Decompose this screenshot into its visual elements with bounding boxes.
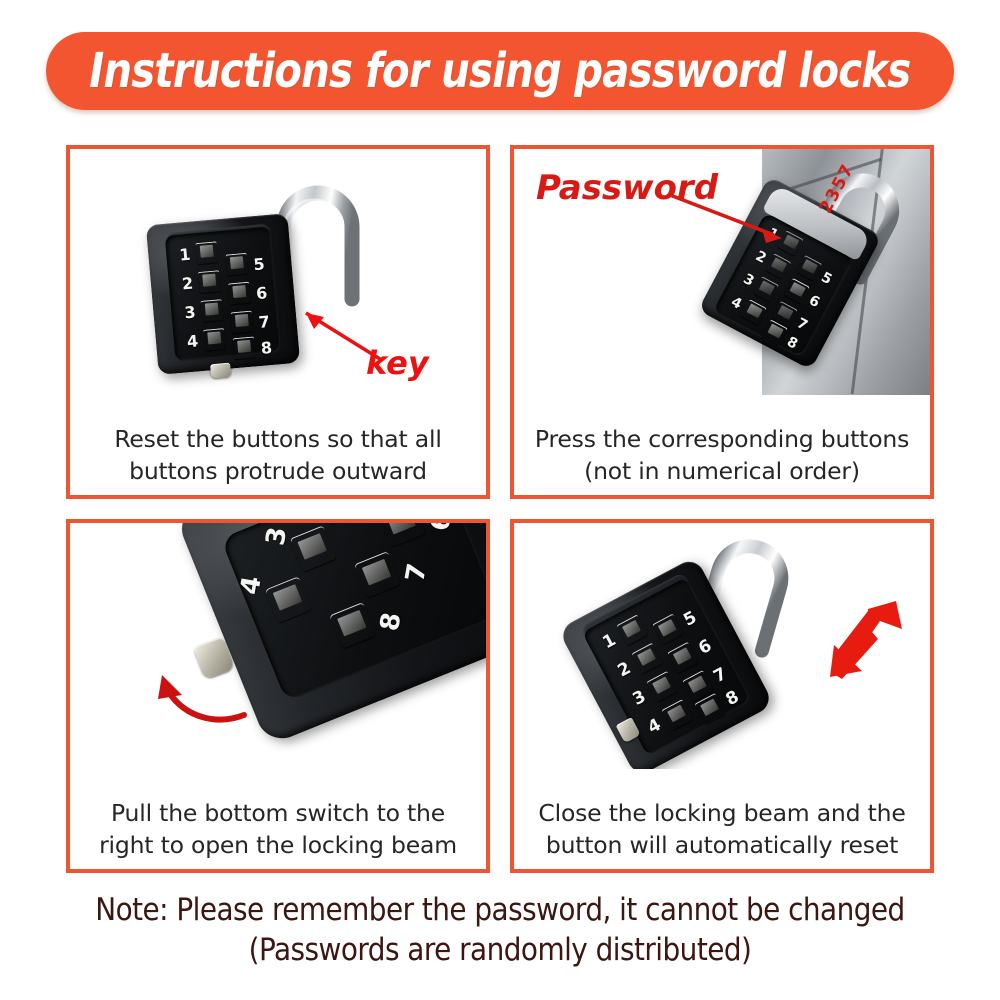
instruction-panel-2: 2357 1 2 3 4 5 6 7 8 bbox=[510, 145, 934, 499]
lock-button-label-5: 5 bbox=[819, 270, 834, 287]
lock-button-7[interactable] bbox=[231, 311, 254, 334]
panel-3-caption: Pull the bottom switch to the right to o… bbox=[76, 798, 480, 861]
banner-pill: Instructions for using password locks bbox=[46, 32, 954, 110]
panel-4-photo: 1 2 3 4 5 6 7 8 bbox=[514, 523, 930, 769]
lock-button-4[interactable] bbox=[265, 576, 312, 623]
lock-button-8[interactable] bbox=[329, 602, 376, 649]
panel-1-caption-line-2: buttons protrude outward bbox=[76, 456, 480, 487]
lock-button-label-7: 7 bbox=[258, 314, 270, 331]
lock-button-6[interactable] bbox=[228, 282, 251, 305]
panel-2-caption-line-1: Press the corresponding buttons bbox=[520, 424, 924, 455]
page-title: Instructions for using password locks bbox=[89, 43, 910, 99]
lock-button-5[interactable] bbox=[796, 255, 822, 281]
lock-button-label-3: 3 bbox=[263, 525, 292, 547]
lock-button-1[interactable] bbox=[617, 614, 648, 645]
lock-button-label-7: 7 bbox=[402, 562, 431, 584]
lock-button-label-4: 4 bbox=[645, 717, 663, 738]
title-banner: Instructions for using password locks bbox=[46, 32, 954, 110]
instruction-panel-grid: 1 2 3 4 5 6 7 8 key bbox=[66, 145, 934, 873]
lock-button-label-8: 8 bbox=[260, 340, 272, 357]
lock-button-label-5: 5 bbox=[681, 609, 699, 630]
instruction-panel-4: 1 2 3 4 5 6 7 8 bbox=[510, 519, 934, 873]
lock-button-label-3: 3 bbox=[630, 688, 648, 709]
padlock-keypad: 1 2 3 4 5 6 7 8 bbox=[165, 227, 282, 362]
lock-button-8[interactable] bbox=[233, 336, 256, 359]
lock-button-6[interactable] bbox=[667, 642, 698, 673]
lock-button-4[interactable] bbox=[203, 328, 226, 351]
lock-button-6[interactable] bbox=[379, 523, 426, 547]
panel-4-caption: Close the locking beam and the button wi… bbox=[520, 798, 924, 861]
lock-button-label-1: 1 bbox=[600, 632, 618, 653]
lock-button-label-8: 8 bbox=[723, 689, 741, 710]
lock-button-label-5: 5 bbox=[253, 256, 265, 273]
lock-button-label-7: 7 bbox=[794, 316, 809, 333]
lock-button-4[interactable] bbox=[662, 699, 693, 730]
instruction-panel-3: 4 3 8 7 6 5 Pull the bottom switch to th bbox=[66, 519, 490, 873]
panel-4-caption-line-2: button will automatically reset bbox=[520, 830, 924, 861]
lock-button-7[interactable] bbox=[354, 551, 401, 598]
lock-button-6[interactable] bbox=[784, 278, 810, 304]
lock-button-5[interactable] bbox=[652, 614, 683, 645]
footer-note-line-1: Note: Please remember the password, it c… bbox=[68, 890, 932, 930]
instruction-panel-1: 1 2 3 4 5 6 7 8 key bbox=[66, 145, 490, 499]
bottom-slide-switch[interactable] bbox=[210, 363, 231, 379]
lock-button-3[interactable] bbox=[647, 671, 678, 702]
lock-button-3[interactable] bbox=[201, 299, 224, 322]
lock-button-label-6: 6 bbox=[696, 637, 714, 658]
lock-button-2[interactable] bbox=[632, 643, 663, 674]
panel-2-caption: Press the corresponding buttons (not in … bbox=[520, 424, 924, 487]
panel-4-caption-line-1: Close the locking beam and the bbox=[520, 798, 924, 829]
lock-button-label-4: 4 bbox=[729, 295, 744, 312]
lock-button-3[interactable] bbox=[290, 525, 337, 572]
lock-button-5[interactable] bbox=[226, 253, 249, 276]
panel-3-caption-line-1: Pull the bottom switch to the bbox=[76, 798, 480, 829]
key-label: key bbox=[366, 347, 429, 379]
lock-button-label-1: 1 bbox=[179, 247, 191, 264]
lock-button-label-2: 2 bbox=[615, 660, 633, 681]
panel-3-photo: 4 3 8 7 6 5 bbox=[70, 523, 486, 769]
panel-3-caption-line-2: right to open the locking beam bbox=[76, 830, 480, 861]
pull-switch-curved-arrow-icon bbox=[132, 653, 262, 733]
panel-1-caption: Reset the buttons so that all buttons pr… bbox=[76, 424, 480, 487]
lock-button-1[interactable] bbox=[195, 241, 218, 264]
lock-button-label-4: 4 bbox=[186, 333, 198, 350]
lock-button-label-6: 6 bbox=[427, 523, 456, 533]
lock-button-label-2: 2 bbox=[181, 276, 193, 293]
panel-2-photo: 2357 1 2 3 4 5 6 7 8 bbox=[514, 149, 930, 395]
lock-button-3[interactable] bbox=[753, 276, 779, 302]
lock-button-label-8: 8 bbox=[377, 611, 406, 633]
password-arrow-icon bbox=[666, 189, 796, 259]
padlock-body: 1 2 3 4 5 6 7 8 bbox=[146, 213, 301, 375]
close-beam-arrow-icon bbox=[824, 595, 914, 685]
lock-button-label-8: 8 bbox=[785, 335, 800, 352]
lock-button-label-7: 7 bbox=[711, 666, 729, 687]
lock-button-4[interactable] bbox=[741, 299, 767, 325]
lock-button-2[interactable] bbox=[198, 270, 221, 293]
footer-note-line-2: (Passwords are randomly distributed) bbox=[68, 930, 932, 970]
lock-button-label-3: 3 bbox=[184, 304, 196, 321]
lock-button-2[interactable] bbox=[316, 523, 363, 525]
lock-button-label-6: 6 bbox=[255, 285, 267, 302]
footer-note: Note: Please remember the password, it c… bbox=[20, 890, 980, 971]
lock-button-label-4: 4 bbox=[237, 574, 266, 596]
panel-1-photo: 1 2 3 4 5 6 7 8 key bbox=[70, 149, 486, 395]
panel-1-caption-line-1: Reset the buttons so that all bbox=[76, 424, 480, 455]
panel-2-caption-line-2: (not in numerical order) bbox=[520, 456, 924, 487]
lock-button-label-6: 6 bbox=[807, 293, 822, 310]
lock-button-label-3: 3 bbox=[741, 272, 756, 289]
